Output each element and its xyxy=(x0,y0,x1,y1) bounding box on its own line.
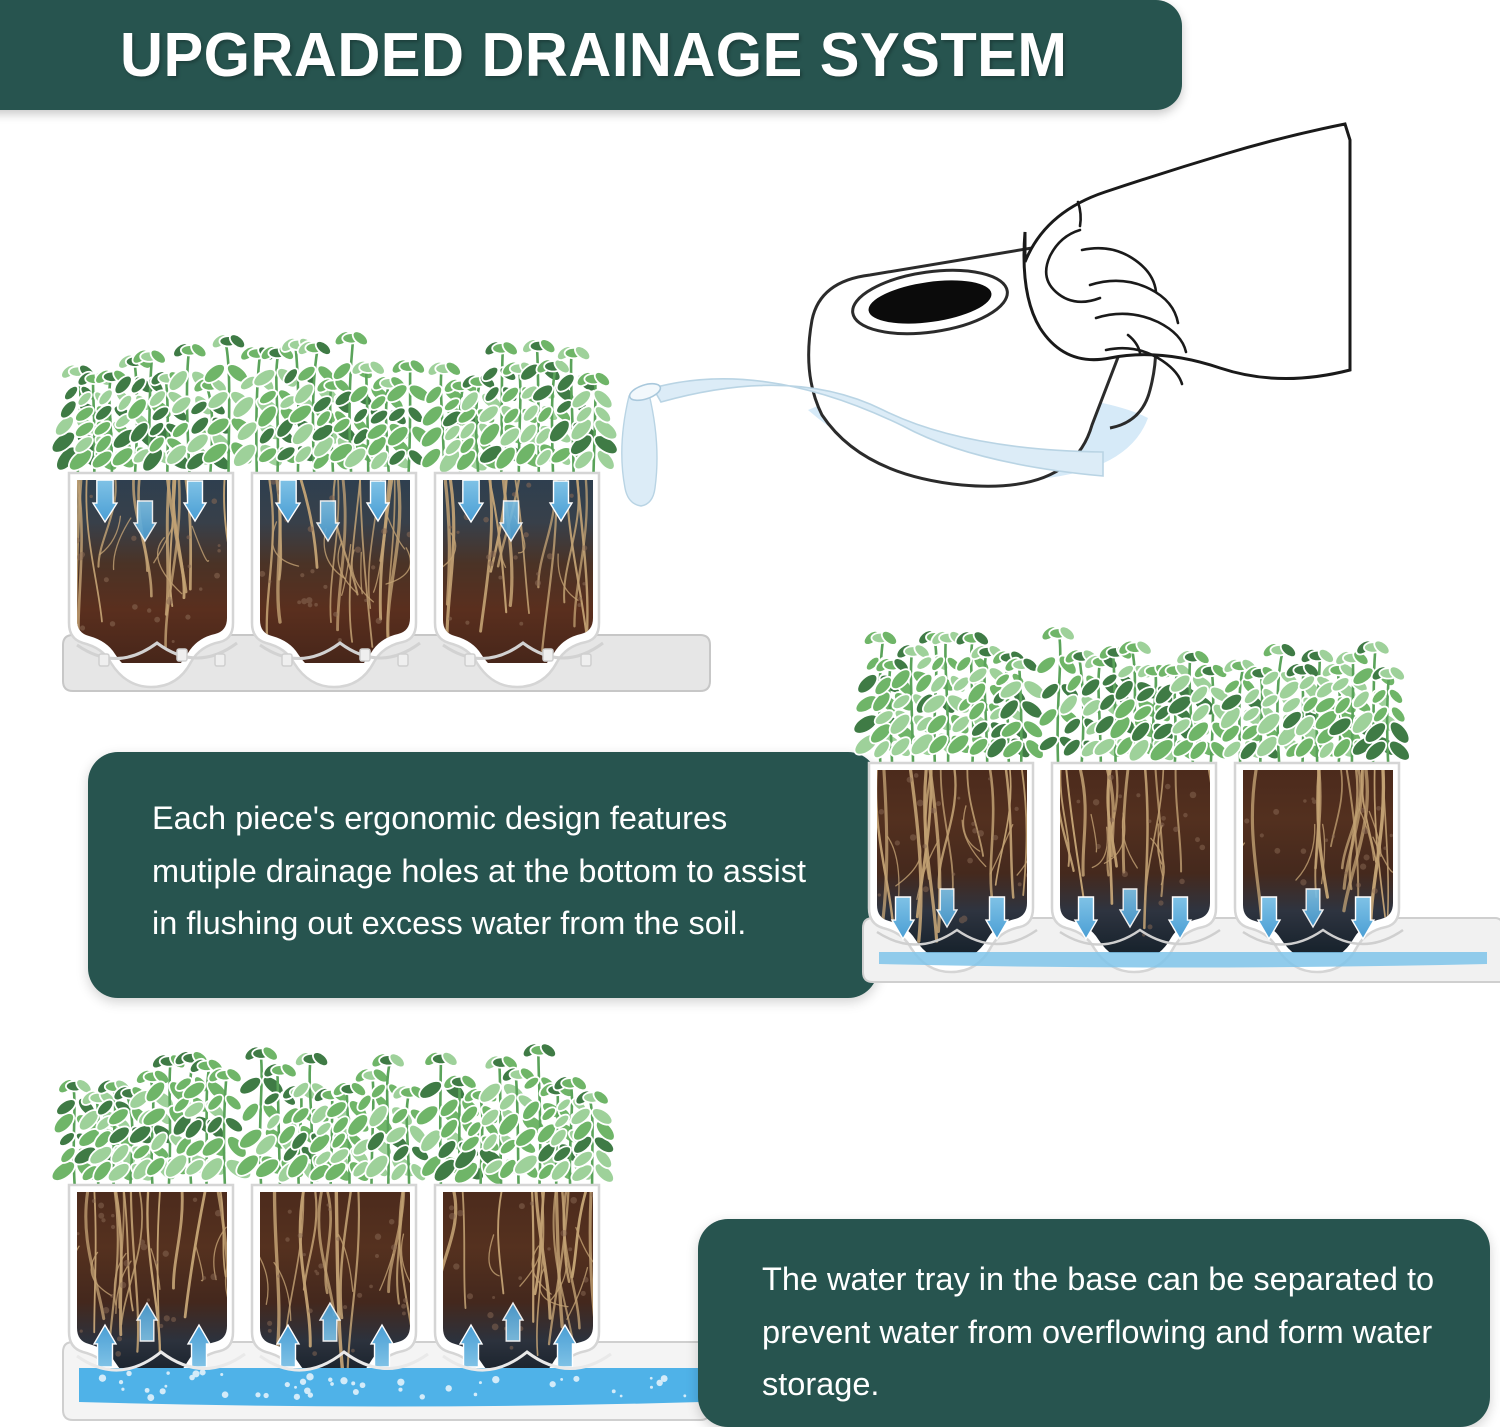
plant-icon xyxy=(48,329,621,477)
stream-arc xyxy=(653,379,1103,476)
page-title: UPGRADED DRAINAGE SYSTEM xyxy=(120,20,1067,91)
panel-tray-text: The water tray in the base can be separa… xyxy=(762,1253,1444,1411)
stream-drop xyxy=(622,394,657,506)
water-stream-icon xyxy=(595,360,1115,520)
water-reservoir xyxy=(79,1368,701,1407)
illustration-bottom-tray xyxy=(55,1080,720,1427)
infographic-canvas: Each piece's ergonomic design features m… xyxy=(0,0,1500,1427)
plant-icon xyxy=(850,624,1413,767)
hand-icon xyxy=(1024,124,1350,379)
middle-tray-graphic xyxy=(855,650,1500,1000)
panel-drainage: Each piece's ergonomic design features m… xyxy=(88,752,878,998)
bottom-tray-graphic xyxy=(55,1080,720,1427)
panel-tray: The water tray in the base can be separa… xyxy=(698,1219,1490,1427)
illustration-middle-tray xyxy=(855,650,1500,1000)
water-layer xyxy=(879,952,1487,968)
plant-icon xyxy=(48,1041,618,1189)
panel-drainage-text: Each piece's ergonomic design features m… xyxy=(152,792,832,950)
title-banner: UPGRADED DRAINAGE SYSTEM xyxy=(0,0,1182,110)
